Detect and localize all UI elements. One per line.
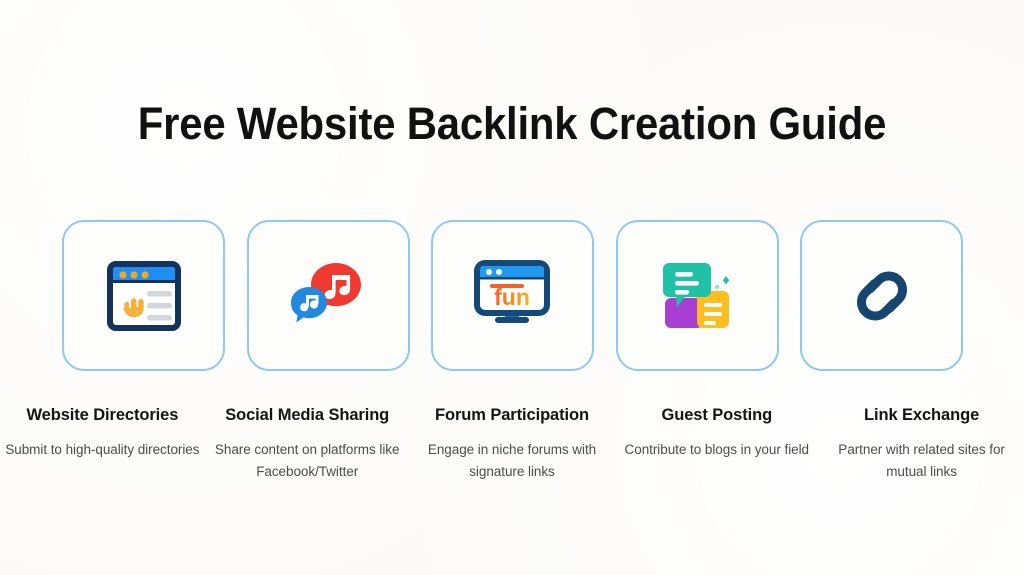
caption-social-media-sharing: Social Media Sharing Share content on pl… [205, 404, 410, 483]
chat-bubbles-music-icon [285, 253, 371, 339]
chain-link-icon [839, 253, 925, 339]
caption-forum-participation: Forum Participation Engage in niche foru… [410, 404, 615, 483]
caption-title: Link Exchange [823, 404, 1020, 426]
card-row: fun [62, 220, 963, 371]
caption-guest-posting: Guest Posting Contribute to blogs in you… [614, 404, 819, 483]
caption-title: Guest Posting [618, 404, 815, 426]
monitor-fun-icon: fun [470, 253, 556, 339]
caption-website-directories: Website Directories Submit to high-quali… [0, 404, 205, 483]
caption-description: Partner with related sites for mutual li… [823, 439, 1020, 483]
card-link-exchange[interactable] [800, 220, 963, 371]
svg-text:fun: fun [494, 284, 530, 310]
caption-title: Forum Participation [414, 404, 611, 426]
card-website-directories[interactable] [62, 220, 225, 371]
card-forum-participation[interactable]: fun [431, 220, 594, 371]
caption-description: Submit to high-quality directories [4, 439, 201, 461]
card-guest-posting[interactable] [616, 220, 779, 371]
caption-description: Contribute to blogs in your field [618, 439, 815, 461]
caption-title: Website Directories [4, 404, 201, 426]
caption-row: Website Directories Submit to high-quali… [0, 404, 1024, 483]
caption-description: Share content on platforms like Facebook… [209, 439, 406, 483]
caption-description: Engage in niche forums with signature li… [414, 439, 611, 483]
page-title: Free Website Backlink Creation Guide [36, 95, 988, 153]
browser-directory-icon [101, 253, 187, 339]
caption-link-exchange: Link Exchange Partner with related sites… [819, 404, 1024, 483]
card-social-media-sharing[interactable] [247, 220, 410, 371]
caption-title: Social Media Sharing [209, 404, 406, 426]
infographic-page: Free Website Backlink Creation Guide [0, 0, 1024, 575]
chat-cards-icon [654, 253, 740, 339]
